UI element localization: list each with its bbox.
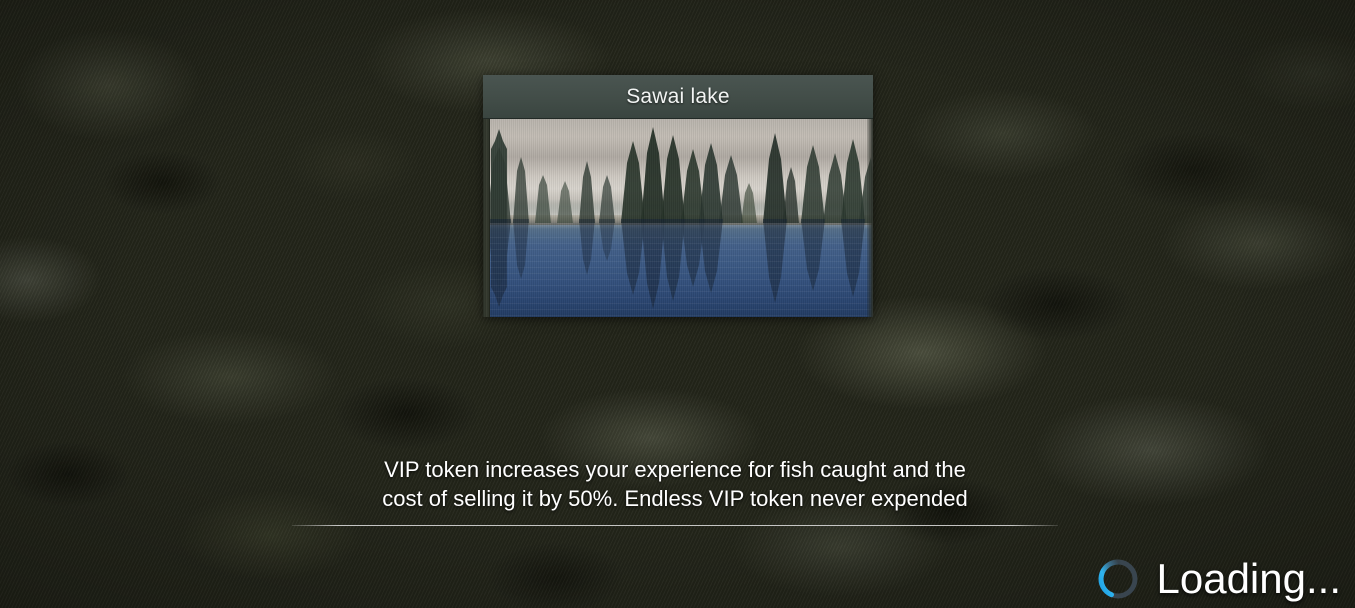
loading-tip-line-1: VIP token increases your experience for … — [292, 455, 1058, 484]
location-card-titlebar: Sawai lake — [483, 75, 873, 119]
photo-grain-overlay — [483, 119, 873, 317]
loading-tip: VIP token increases your experience for … — [292, 455, 1058, 526]
loading-indicator: Loading... — [1095, 556, 1342, 602]
loading-tip-line-2: cost of selling it by 50%. Endless VIP t… — [292, 484, 1058, 513]
location-image — [483, 119, 873, 317]
location-preview-card: Sawai lake — [483, 75, 873, 317]
loading-screen: Sawai lake — [0, 0, 1355, 608]
loading-label: Loading... — [1157, 556, 1342, 602]
location-title: Sawai lake — [626, 85, 730, 109]
loading-spinner-icon — [1095, 556, 1141, 602]
tip-divider — [292, 525, 1058, 526]
